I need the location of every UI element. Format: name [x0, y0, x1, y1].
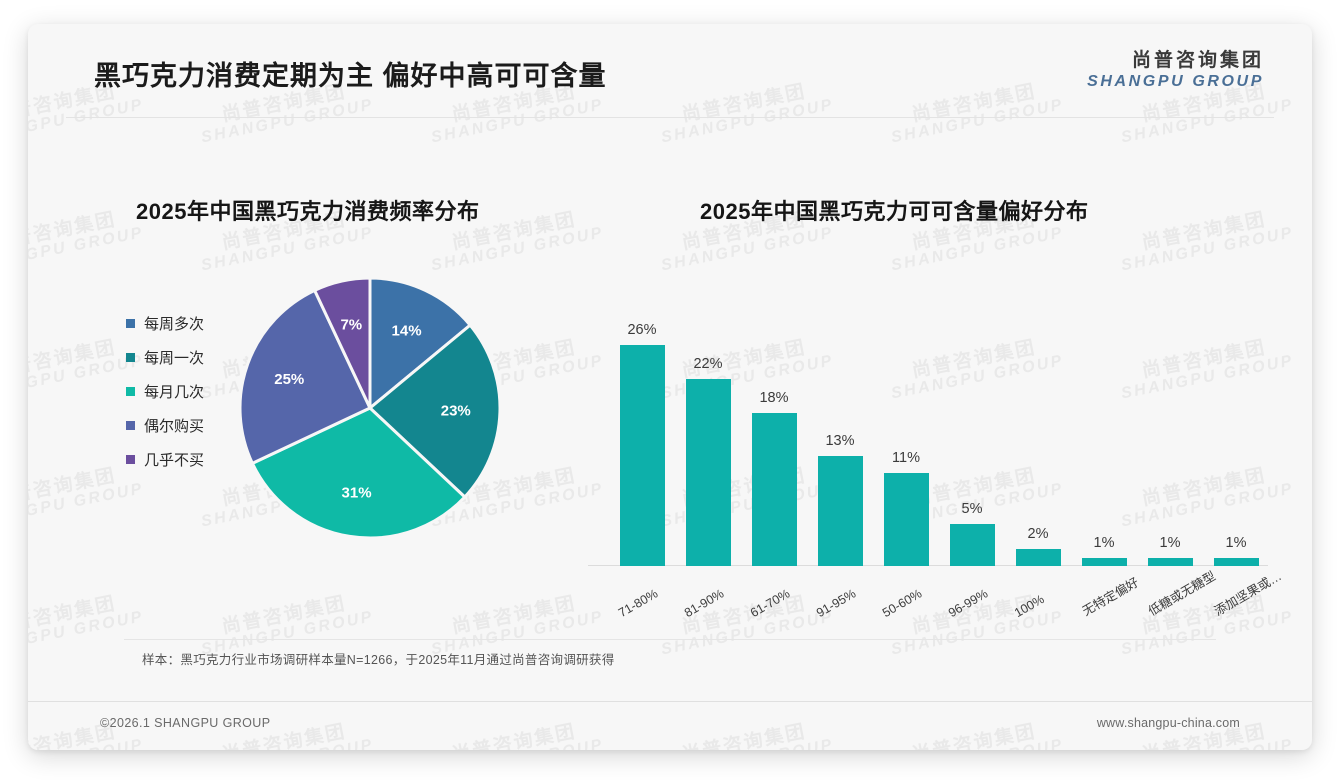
pie-chart-svg: 14%23%31%25%7% — [220, 258, 520, 558]
bar-value-label: 11% — [892, 450, 920, 466]
pie-slice-label: 14% — [392, 322, 422, 339]
pie-legend-item[interactable]: 每周多次 — [126, 306, 204, 340]
bar-value-label: 5% — [962, 501, 983, 517]
legend-swatch-icon — [126, 353, 135, 362]
logo-chinese: 尚普咨询集团 — [1087, 50, 1264, 72]
bar-rect[interactable] — [686, 379, 731, 566]
pie-legend-label: 几乎不买 — [144, 449, 204, 470]
bar-rect[interactable] — [884, 473, 929, 566]
pie-legend-item[interactable]: 偶尔购买 — [126, 408, 204, 442]
pie-chart: 每周多次每周一次每月几次偶尔购买几乎不买 14%23%31%25%7% — [108, 258, 578, 588]
pie-slice-label: 7% — [340, 316, 362, 333]
bar-column[interactable]: 13% — [806, 433, 874, 566]
pie-legend-label: 每周一次 — [144, 347, 204, 368]
pie-slice-label: 25% — [274, 371, 304, 388]
footer-website[interactable]: www.shangpu-china.com — [1097, 716, 1240, 730]
bar-value-label: 13% — [825, 433, 854, 449]
legend-swatch-icon — [126, 387, 135, 396]
bar-value-label: 1% — [1094, 535, 1115, 551]
slide-header: 黑巧克力消费定期为主 偏好中高可可含量 尚普咨询集团 SHANGPU GROUP — [28, 24, 1312, 118]
pie-legend-item[interactable]: 几乎不买 — [126, 442, 204, 476]
pie-slice-label: 31% — [342, 485, 372, 502]
bar-value-label: 18% — [759, 390, 788, 406]
watermark-tile: 尚普咨询集团SHANGPU GROUP — [656, 718, 835, 750]
bar-value-label: 26% — [627, 322, 656, 338]
bar-column[interactable]: 18% — [740, 390, 808, 566]
pie-legend-label: 每周多次 — [144, 313, 204, 334]
legend-swatch-icon — [126, 455, 135, 464]
slide-body: 2025年中国黑巧克力消费频率分布 2025年中国黑巧克力可可含量偏好分布 每周… — [28, 118, 1312, 672]
sample-footnote: 样本：黑巧克力行业市场调研样本量N=1266，于2025年11月通过尚普咨询调研… — [142, 649, 615, 668]
slide-card: 尚普咨询集团SHANGPU GROUP尚普咨询集团SHANGPU GROUP尚普… — [28, 24, 1312, 750]
footer-divider — [28, 701, 1312, 702]
bar-rect[interactable] — [752, 413, 797, 566]
bar-column[interactable]: 11% — [872, 450, 940, 566]
pie-legend-item[interactable]: 每周一次 — [126, 340, 204, 374]
bar-plot-area: 26%22%18%13%11%5%2%1%1%1% — [588, 276, 1268, 566]
legend-swatch-icon — [126, 421, 135, 430]
footer-copyright: ©2026.1 SHANGPU GROUP — [100, 716, 270, 730]
bar-value-label: 22% — [693, 356, 722, 372]
bar-chart-title: 2025年中国黑巧克力可可含量偏好分布 — [700, 194, 1088, 226]
header-divider — [66, 117, 1274, 118]
pie-legend-label: 每月几次 — [144, 381, 204, 402]
watermark-tile: 尚普咨询集团SHANGPU GROUP — [426, 718, 605, 750]
bar-chart: 26%22%18%13%11%5%2%1%1%1% 71-80%81-90%61… — [588, 228, 1268, 628]
pie-legend: 每周多次每周一次每月几次偶尔购买几乎不买 — [126, 306, 204, 476]
legend-swatch-icon — [126, 319, 135, 328]
pie-legend-label: 偶尔购买 — [144, 415, 204, 436]
bar-value-label: 2% — [1028, 526, 1049, 542]
pie-chart-title: 2025年中国黑巧克力消费频率分布 — [136, 194, 479, 226]
brand-logo: 尚普咨询集团 SHANGPU GROUP — [1087, 50, 1264, 91]
logo-english: SHANGPU GROUP — [1087, 72, 1264, 91]
bar-column[interactable]: 22% — [674, 356, 742, 566]
bar-rect[interactable] — [818, 456, 863, 566]
footnote-divider — [124, 639, 1216, 640]
page-title: 黑巧克力消费定期为主 偏好中高可可含量 — [94, 54, 607, 93]
pie-slice-label: 23% — [441, 403, 471, 420]
bar-column[interactable]: 26% — [608, 322, 676, 566]
bar-rect[interactable] — [620, 345, 665, 566]
watermark-tile: 尚普咨询集团SHANGPU GROUP — [886, 718, 1065, 750]
pie-legend-item[interactable]: 每月几次 — [126, 374, 204, 408]
